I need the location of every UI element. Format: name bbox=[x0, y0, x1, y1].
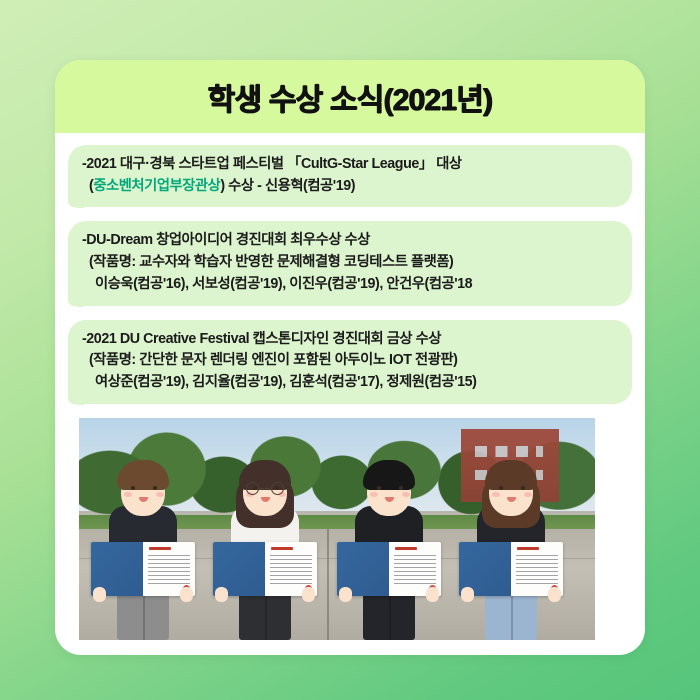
certificate-text-lines bbox=[394, 555, 436, 585]
student-hand bbox=[461, 587, 474, 602]
student-eye bbox=[399, 486, 403, 490]
student-hand bbox=[302, 587, 315, 602]
student-hand bbox=[93, 587, 106, 602]
card-header-band: 학생 수상 소식(2021년) bbox=[55, 60, 645, 133]
award-text: ) 수상 - 신용혁(컴공'19) bbox=[220, 178, 355, 194]
student-cheek-blush bbox=[402, 492, 410, 497]
student-eye bbox=[153, 486, 157, 490]
student-eye bbox=[499, 486, 503, 490]
award-text: 여상준(컴공'19), 김지율(컴공'19), 김훈석(컴공'17), 정제원(… bbox=[95, 374, 477, 390]
award-cultg-star-league: -2021 대구·경북 스타트업 페스티벌 「CultG-Star League… bbox=[68, 145, 632, 207]
certificate-text-lines bbox=[270, 555, 312, 585]
award-text: (작품명: 교수자와 학습자 반영한 문제해결형 코딩테스트 플랫폼) bbox=[89, 254, 453, 270]
award-line: (작품명: 교수자와 학습자 반영한 문제해결형 코딩테스트 플랫폼) bbox=[82, 252, 618, 274]
student-hand bbox=[215, 587, 228, 602]
award-text: 이승욱(컴공'16), 서보성(컴공'19), 이진우(컴공'19), 안건우(… bbox=[95, 276, 472, 292]
award-text: (작품명: 간단한 문자 렌더링 엔진이 포함된 아두이노 IOT 전광판) bbox=[89, 352, 457, 368]
student-hand bbox=[548, 587, 561, 602]
student-hand bbox=[180, 587, 193, 602]
student-eye bbox=[131, 486, 135, 490]
award-list: -2021 대구·경북 스타트업 페스티벌 「CultG-Star League… bbox=[55, 133, 645, 404]
award-line: 여상준(컴공'19), 김지율(컴공'19), 김훈석(컴공'17), 정제원(… bbox=[82, 372, 618, 394]
student-hand bbox=[339, 587, 352, 602]
certificate-folder bbox=[91, 542, 195, 596]
award-text: -DU-Dream 창업아이디어 경진대회 최우수상 수상 bbox=[82, 232, 370, 248]
certificate-folder bbox=[459, 542, 563, 596]
student-1 bbox=[95, 460, 191, 640]
highlight-text: 중소벤처기업부장관상 bbox=[93, 178, 220, 194]
student-3 bbox=[341, 460, 437, 640]
student-4 bbox=[463, 460, 559, 640]
award-line: 이승욱(컴공'16), 서보성(컴공'19), 이진우(컴공'19), 안건우(… bbox=[82, 274, 618, 296]
award-news-card: 학생 수상 소식(2021년) -2021 대구·경북 스타트업 페스티벌 「C… bbox=[55, 60, 645, 655]
photo-canvas bbox=[79, 418, 595, 640]
award-du-creative-festival: -2021 DU Creative Festival 캡스톤디자인 경진대회 금… bbox=[68, 320, 632, 404]
certificate-text-lines bbox=[148, 555, 190, 585]
student-eye bbox=[377, 486, 381, 490]
award-line: -DU-Dream 창업아이디어 경진대회 최우수상 수상 bbox=[82, 230, 618, 252]
student-cheek-blush bbox=[370, 492, 378, 497]
student-hair bbox=[363, 460, 415, 490]
award-line: -2021 DU Creative Festival 캡스톤디자인 경진대회 금… bbox=[82, 329, 618, 351]
glasses-icon bbox=[246, 482, 284, 495]
certificate-folder bbox=[337, 542, 441, 596]
group-photo bbox=[79, 418, 595, 640]
award-du-dream: -DU-Dream 창업아이디어 경진대회 최우수상 수상(작품명: 교수자와 … bbox=[68, 221, 632, 305]
student-cheek-blush bbox=[524, 492, 532, 497]
student-cheek-blush bbox=[492, 492, 500, 497]
award-line: -2021 대구·경북 스타트업 페스티벌 「CultG-Star League… bbox=[82, 154, 618, 176]
student-eye bbox=[521, 486, 525, 490]
student-hand bbox=[426, 587, 439, 602]
page-title: 학생 수상 소식(2021년) bbox=[208, 75, 493, 119]
award-text: -2021 대구·경북 스타트업 페스티벌 「CultG-Star League… bbox=[82, 156, 462, 172]
student-cheek-blush bbox=[156, 492, 164, 497]
student-cheek-blush bbox=[124, 492, 132, 497]
student-2 bbox=[217, 460, 313, 640]
student-hair bbox=[117, 460, 169, 490]
student-hair bbox=[485, 460, 537, 490]
award-text: -2021 DU Creative Festival 캡스톤디자인 경진대회 금… bbox=[82, 331, 441, 347]
certificate-text-lines bbox=[516, 555, 558, 585]
award-line: (작품명: 간단한 문자 렌더링 엔진이 포함된 아두이노 IOT 전광판) bbox=[82, 350, 618, 372]
award-line: (중소벤처기업부장관상) 수상 - 신용혁(컴공'19) bbox=[82, 176, 618, 198]
certificate-folder bbox=[213, 542, 317, 596]
